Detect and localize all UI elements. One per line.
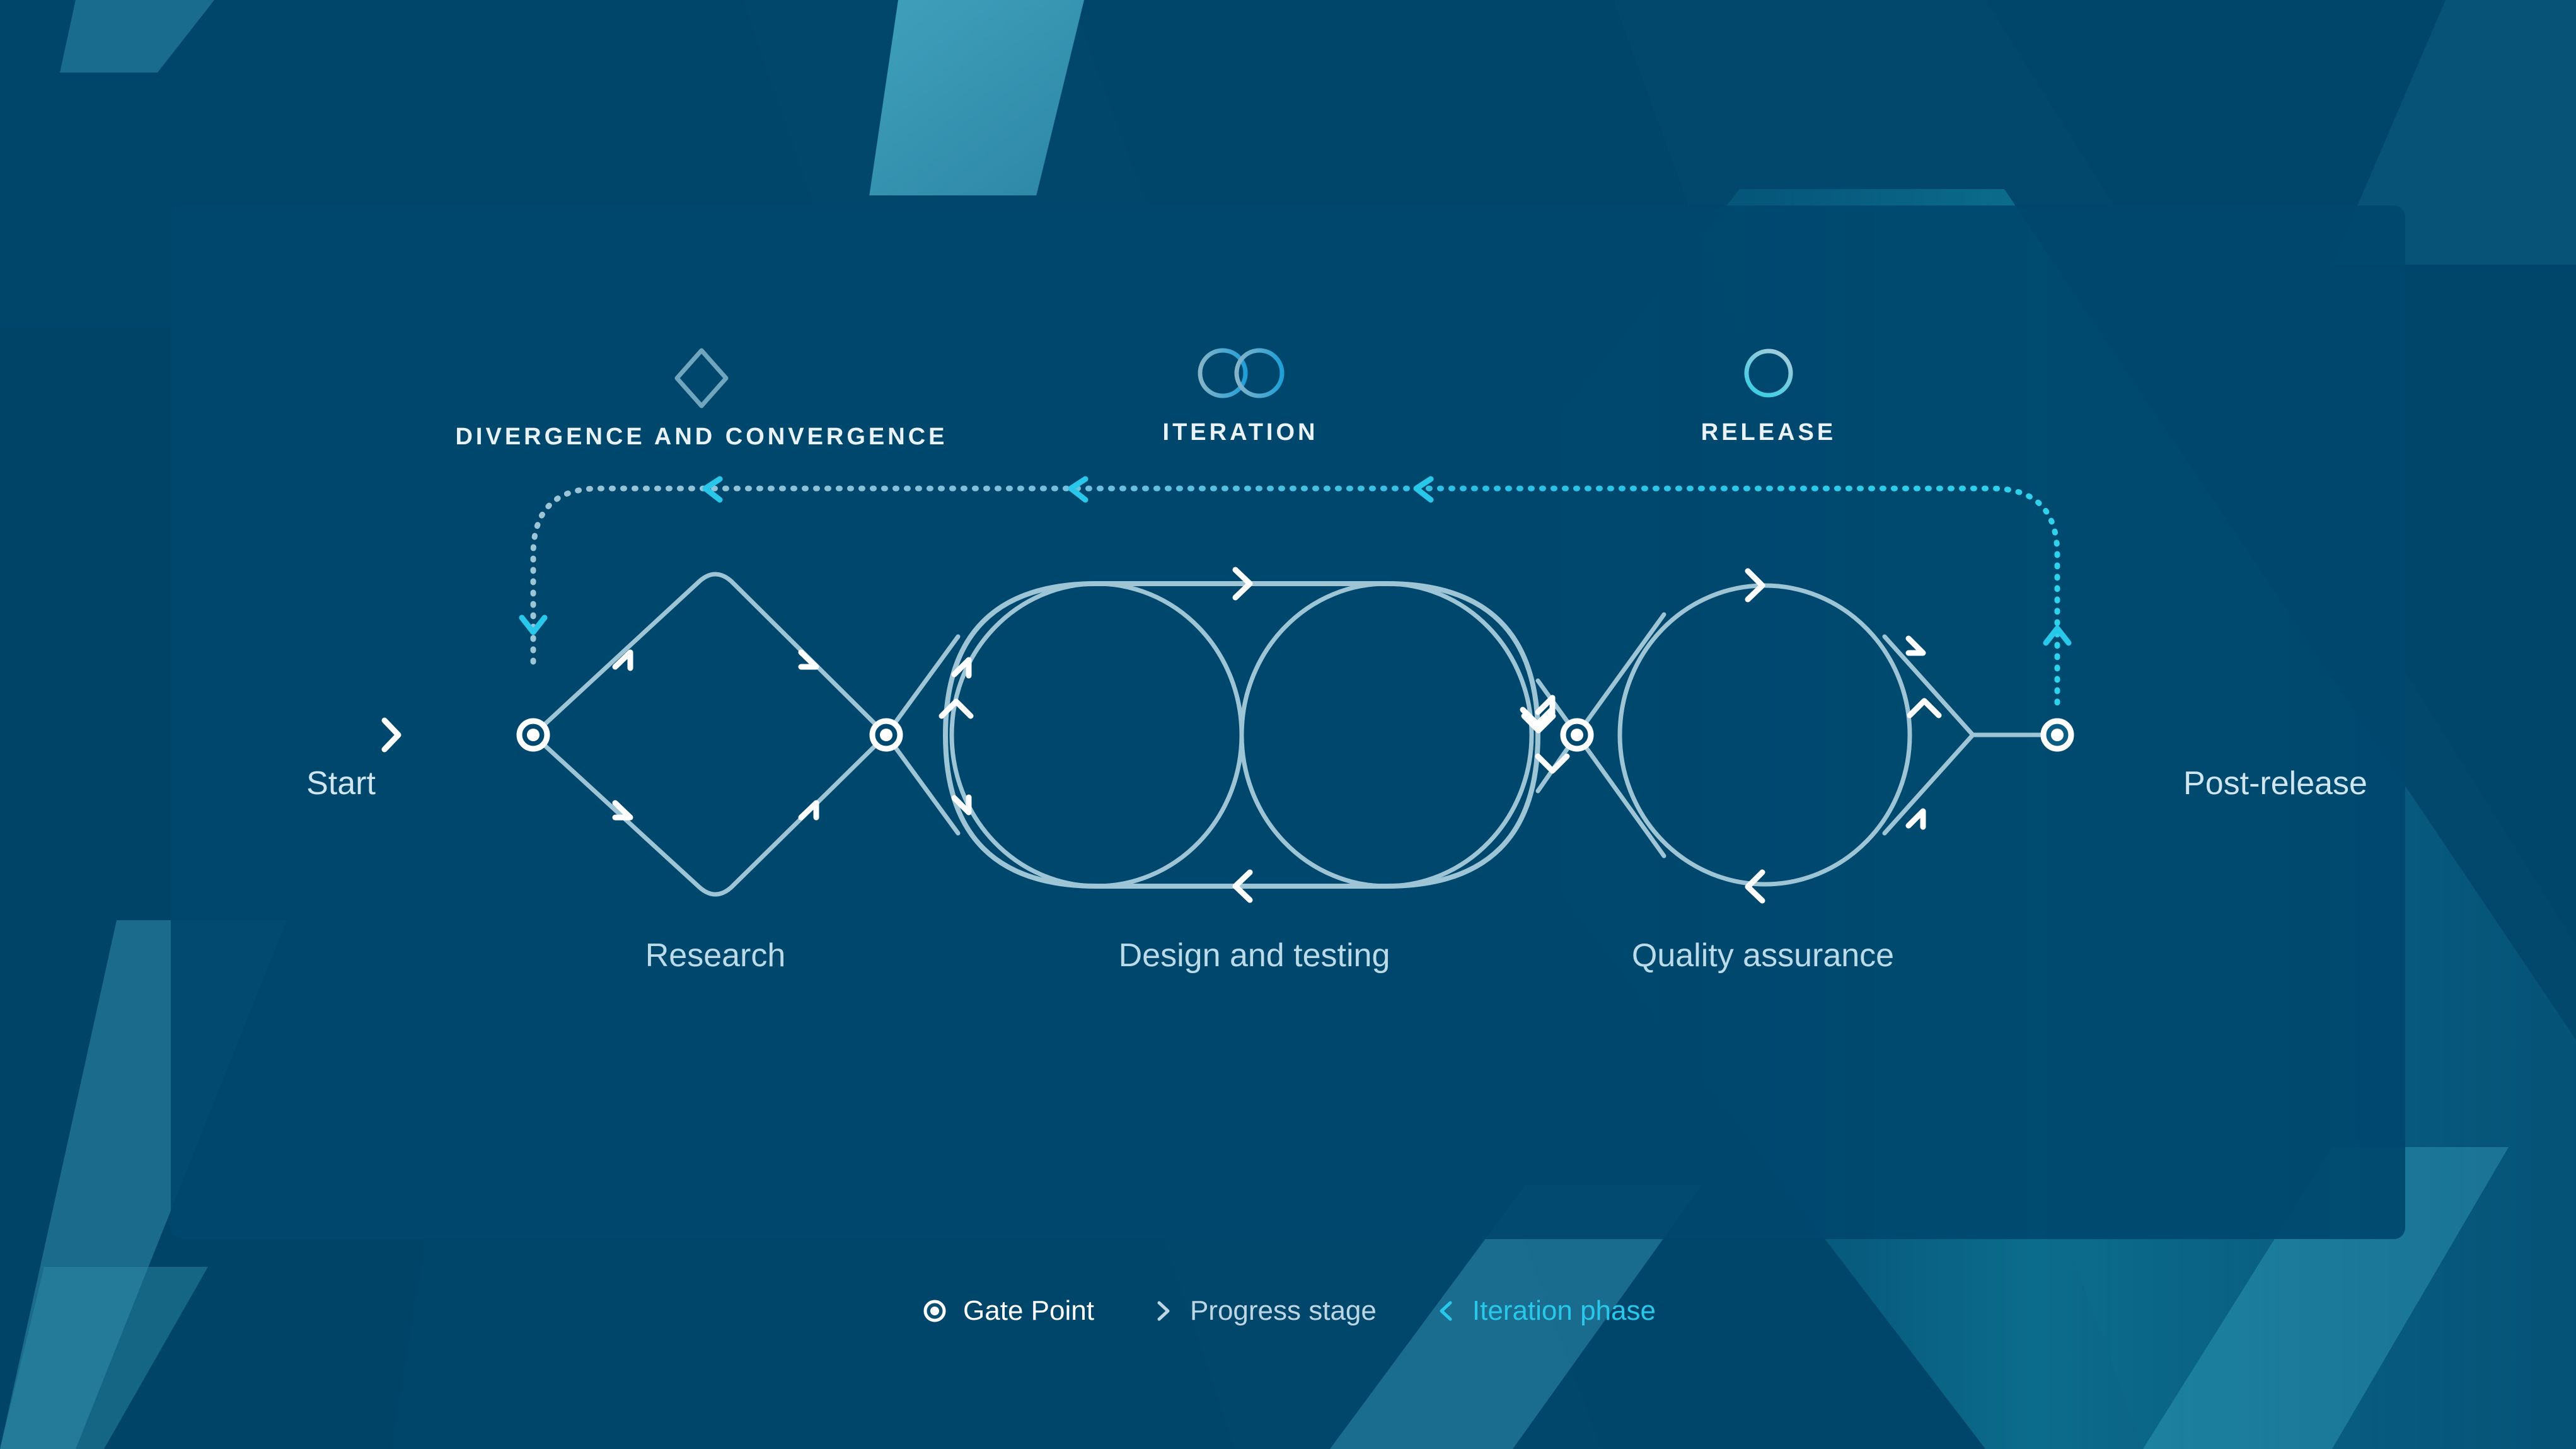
progress-chevron [1909,811,1923,827]
gate-point-icon [1563,721,1591,749]
legend-item-iteration-phase[interactable]: Iteration phase [1433,1295,1656,1327]
stage-label-design-and-testing: Design and testing [1119,937,1390,974]
qa-outlet-upper [1885,637,1973,735]
endpoint-label-start: Start [306,765,376,802]
progress-chevron [1748,872,1762,901]
gate-point-markers [519,721,2071,749]
phase-header-divergence: DIVERGENCE AND CONVERGENCE [455,424,947,451]
progress-chevron [1909,638,1923,653]
design-circle-left [952,584,1242,886]
design-circle-right [1242,584,1532,886]
stage-label-research: Research [645,937,786,974]
chevron-left-icon [1433,1296,1458,1325]
qa-circle [1620,586,1910,884]
legend-label-gate-point: Gate Point [963,1295,1094,1327]
legend-label-iteration-phase: Iteration phase [1472,1295,1656,1327]
endpoint-label-post-release: Post-release [2183,765,2367,802]
progress-chevron [1538,756,1567,771]
gate-point-icon [920,1296,949,1325]
research-diamond [533,574,886,894]
diagram-canvas: DIVERGENCE AND CONVERGENCE ITERATION REL… [0,0,2576,1449]
legend-item-gate-point[interactable]: Gate Point [920,1295,1094,1327]
progress-chevron [801,652,816,667]
gate-point-icon [2043,721,2071,749]
progress-chevron [801,803,816,817]
stage-label-quality-assurance: Quality assurance [1632,937,1894,974]
phase-header-release: RELEASE [1701,419,1836,446]
process-diagram [0,0,2576,1449]
iteration-feedback-loop [533,488,2057,706]
legend-item-progress-stage[interactable]: Progress stage [1151,1295,1377,1327]
progress-chevron [1538,698,1552,713]
progress-chevron [1910,701,1939,715]
legend-label-progress-stage: Progress stage [1190,1295,1377,1327]
gate-point-icon [872,721,900,749]
qa-outlet-lower [1885,735,1973,833]
legend: Gate Point Progress stage Iteration phas… [0,1283,2576,1339]
gate-point-icon [519,721,547,749]
chevron-right-icon [1151,1296,1176,1325]
phase-header-iteration: ITERATION [1163,419,1319,446]
